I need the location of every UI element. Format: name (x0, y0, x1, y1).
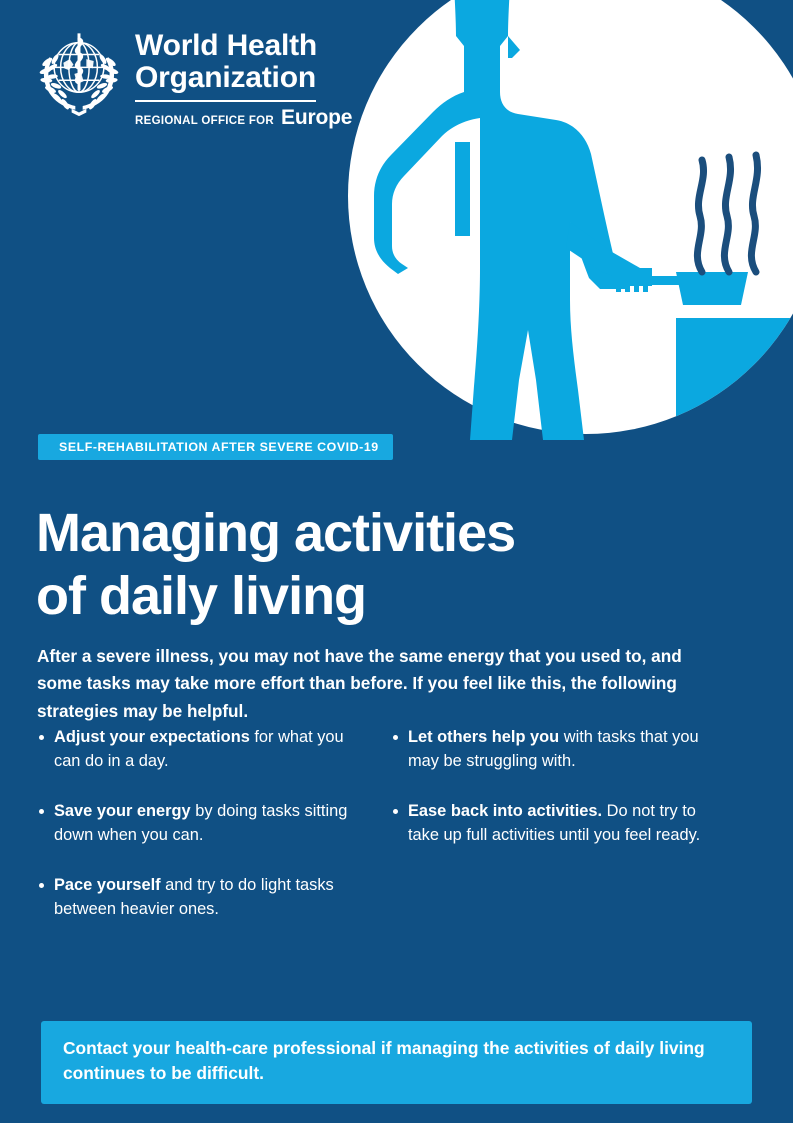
list-item: Let others help you with tasks that you … (384, 726, 710, 774)
list-item-text: Save your energy by doing tasks sitting … (54, 800, 356, 848)
footer-callout-banner: Contact your health-care professional if… (41, 1021, 752, 1104)
list-item-lead: Pace yourself (54, 876, 161, 894)
bullet-dot-icon (30, 874, 54, 922)
list-item-lead: Save your energy (54, 802, 191, 820)
strategies-columns: Adjust your expectations for what you ca… (30, 726, 730, 922)
wordmark-line-1: World Health (135, 30, 352, 62)
poster: World Health Organization REGIONAL OFFIC… (0, 0, 793, 1123)
bullet-dot-icon (384, 800, 408, 848)
list-item-lead: Ease back into activities. (408, 802, 602, 820)
list-item-text: Pace yourself and try to do light tasks … (54, 874, 356, 922)
bullet-dot-icon (30, 726, 54, 774)
kitchen-counter (676, 318, 793, 440)
status-badge: SELF-REHABILITATION AFTER SEVERE COVID-1… (38, 434, 393, 460)
who-logo: World Health Organization REGIONAL OFFIC… (33, 26, 352, 130)
list-item: Pace yourself and try to do light tasks … (30, 874, 356, 922)
region-prefix: REGIONAL OFFICE FOR (135, 115, 274, 127)
who-wordmark: World Health Organization REGIONAL OFFIC… (135, 26, 352, 130)
strategies-column-right: Let others help you with tasks that you … (384, 726, 710, 922)
strategies-column-left: Adjust your expectations for what you ca… (30, 726, 356, 922)
wordmark-line-2: Organization (135, 62, 352, 94)
list-item-text: Let others help you with tasks that you … (408, 726, 710, 774)
list-item: Ease back into activities. Do not try to… (384, 800, 710, 848)
list-item-text: Ease back into activities. Do not try to… (408, 800, 710, 848)
page-title-line-2: of daily living (36, 565, 515, 628)
who-emblem-icon (33, 26, 125, 118)
logo-region: REGIONAL OFFICE FOR Europe (135, 106, 352, 130)
list-item-lead: Let others help you (408, 728, 559, 746)
page-title-line-1: Managing activities (36, 502, 515, 565)
list-item: Adjust your expectations for what you ca… (30, 726, 356, 774)
page-title: Managing activities of daily living (36, 502, 515, 627)
list-item-text: Adjust your expectations for what you ca… (54, 726, 356, 774)
bullet-dot-icon (30, 800, 54, 848)
region-name: Europe (281, 106, 352, 130)
logo-divider (135, 100, 316, 102)
frying-pan (676, 272, 748, 305)
intro-paragraph: After a severe illness, you may not have… (37, 643, 689, 725)
list-item-lead: Adjust your expectations (54, 728, 250, 746)
footer-callout-text: Contact your health-care professional if… (63, 1036, 732, 1087)
list-item: Save your energy by doing tasks sitting … (30, 800, 356, 848)
bullet-dot-icon (384, 726, 408, 774)
